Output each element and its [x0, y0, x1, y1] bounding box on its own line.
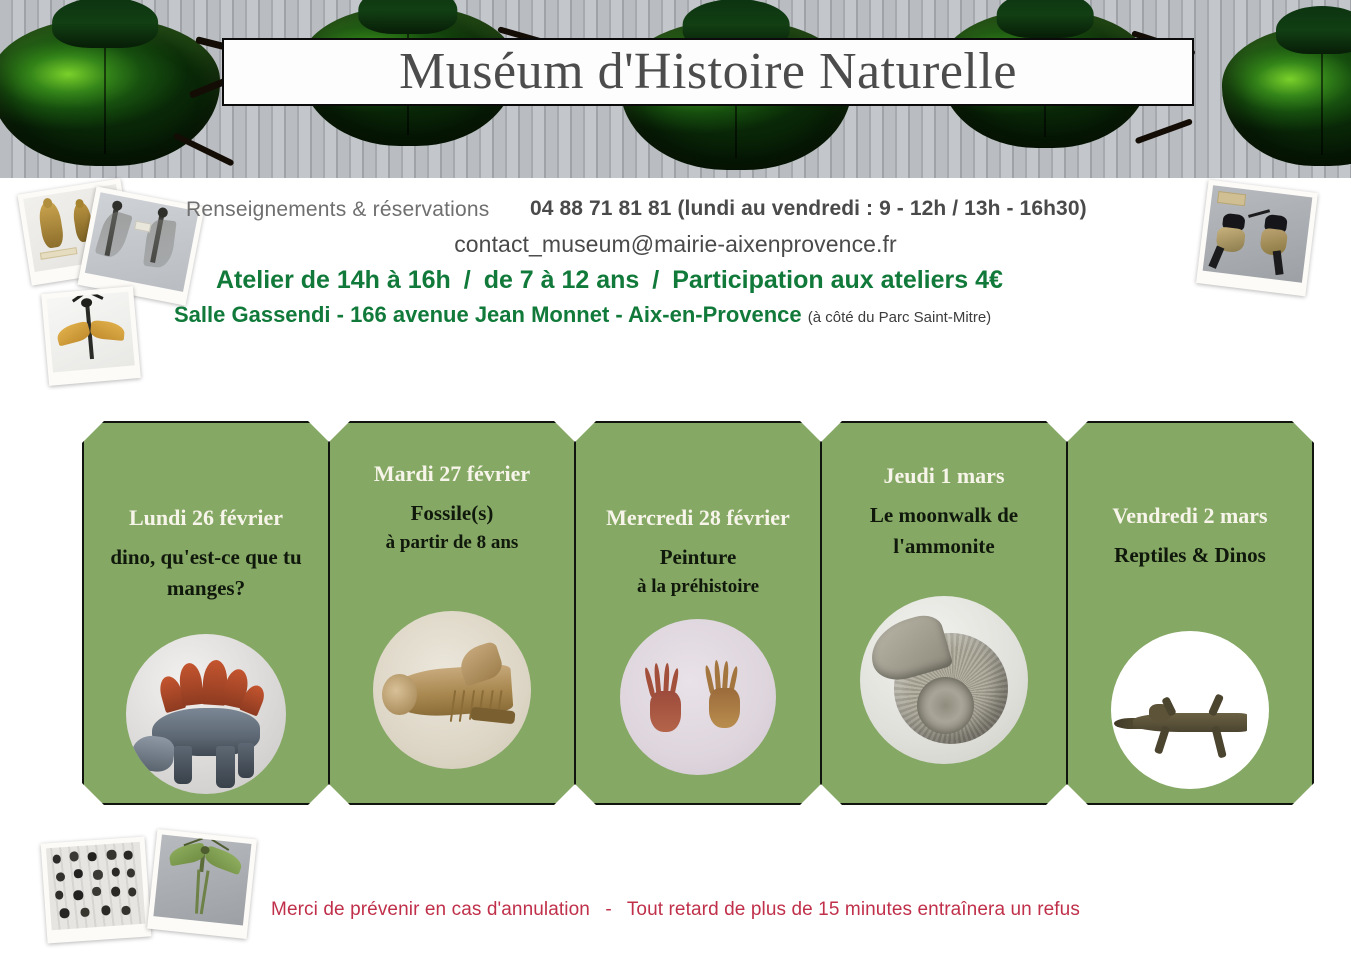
polaroid-beetle-collection	[41, 836, 152, 943]
palm-icon	[709, 688, 740, 728]
footer-dash: -	[595, 899, 621, 920]
prehistoric-handprints-photo	[620, 619, 776, 775]
card-activity: Peinture à la préhistoire	[629, 542, 767, 600]
card-activity: dino, qu'est-ce que tu manges?	[82, 542, 330, 603]
card-image	[1111, 631, 1269, 789]
card-activity: Le moonwalk de l'ammonite	[820, 500, 1068, 561]
workshop-card[interactable]: Jeudi 1 mars Le moonwalk de l'ammonite	[820, 421, 1068, 805]
dino-leg-icon	[216, 746, 235, 788]
cancellation-notice: Merci de prévenir en cas d'annulation	[271, 899, 590, 920]
stegosaurus-toy-photo	[126, 634, 286, 794]
polaroid-green-lacewing	[147, 829, 257, 939]
workshop-card[interactable]: Mercredi 28 février Peinture à la préhis…	[574, 421, 822, 805]
workshop-card[interactable]: Lundi 26 février dino, qu'est-ce que tu …	[82, 421, 330, 805]
footer-notice: Merci de prévenir en cas d'annulation - …	[0, 899, 1351, 921]
card-date: Mercredi 28 février	[600, 505, 796, 530]
card-image	[126, 634, 286, 794]
palm-icon	[650, 691, 681, 731]
card-image	[860, 596, 1028, 764]
card-activity-main: Peinture	[660, 545, 737, 569]
late-notice: Tout retard de plus de 15 minutes entraî…	[627, 899, 1080, 920]
handprint-icon	[645, 663, 686, 735]
fossil-impression-photo	[373, 611, 531, 769]
workshop-card[interactable]: Mardi 27 février Fossile(s) à partir de …	[328, 421, 576, 805]
card-image	[620, 619, 776, 775]
card-date: Mardi 27 février	[368, 461, 536, 486]
card-activity-sub: à partir de 8 ans	[386, 529, 519, 557]
card-date: Lundi 26 février	[123, 505, 289, 530]
dino-head-icon	[130, 734, 176, 775]
poster-root: Muséum d'Histoire Naturelle	[0, 0, 1351, 953]
workshop-cards: Lundi 26 février dino, qu'est-ce que tu …	[0, 0, 1351, 953]
card-date: Jeudi 1 mars	[878, 463, 1011, 488]
ammonite-fossil-photo	[860, 596, 1028, 764]
handprint-icon	[704, 660, 745, 732]
card-activity-main: Fossile(s)	[411, 501, 494, 525]
lizard-specimen-photo	[1111, 631, 1269, 789]
workshop-card[interactable]: Vendredi 2 mars Reptiles & Dinos	[1066, 421, 1314, 805]
card-activity-sub: à la préhistoire	[637, 573, 759, 601]
dino-leg-icon	[174, 746, 192, 784]
card-image	[373, 611, 531, 769]
ammonite-spiral-icon	[917, 677, 974, 734]
dino-leg-icon	[238, 743, 254, 778]
card-activity: Fossile(s) à partir de 8 ans	[378, 498, 527, 556]
card-date: Vendredi 2 mars	[1106, 503, 1273, 528]
card-activity: Reptiles & Dinos	[1106, 540, 1274, 570]
